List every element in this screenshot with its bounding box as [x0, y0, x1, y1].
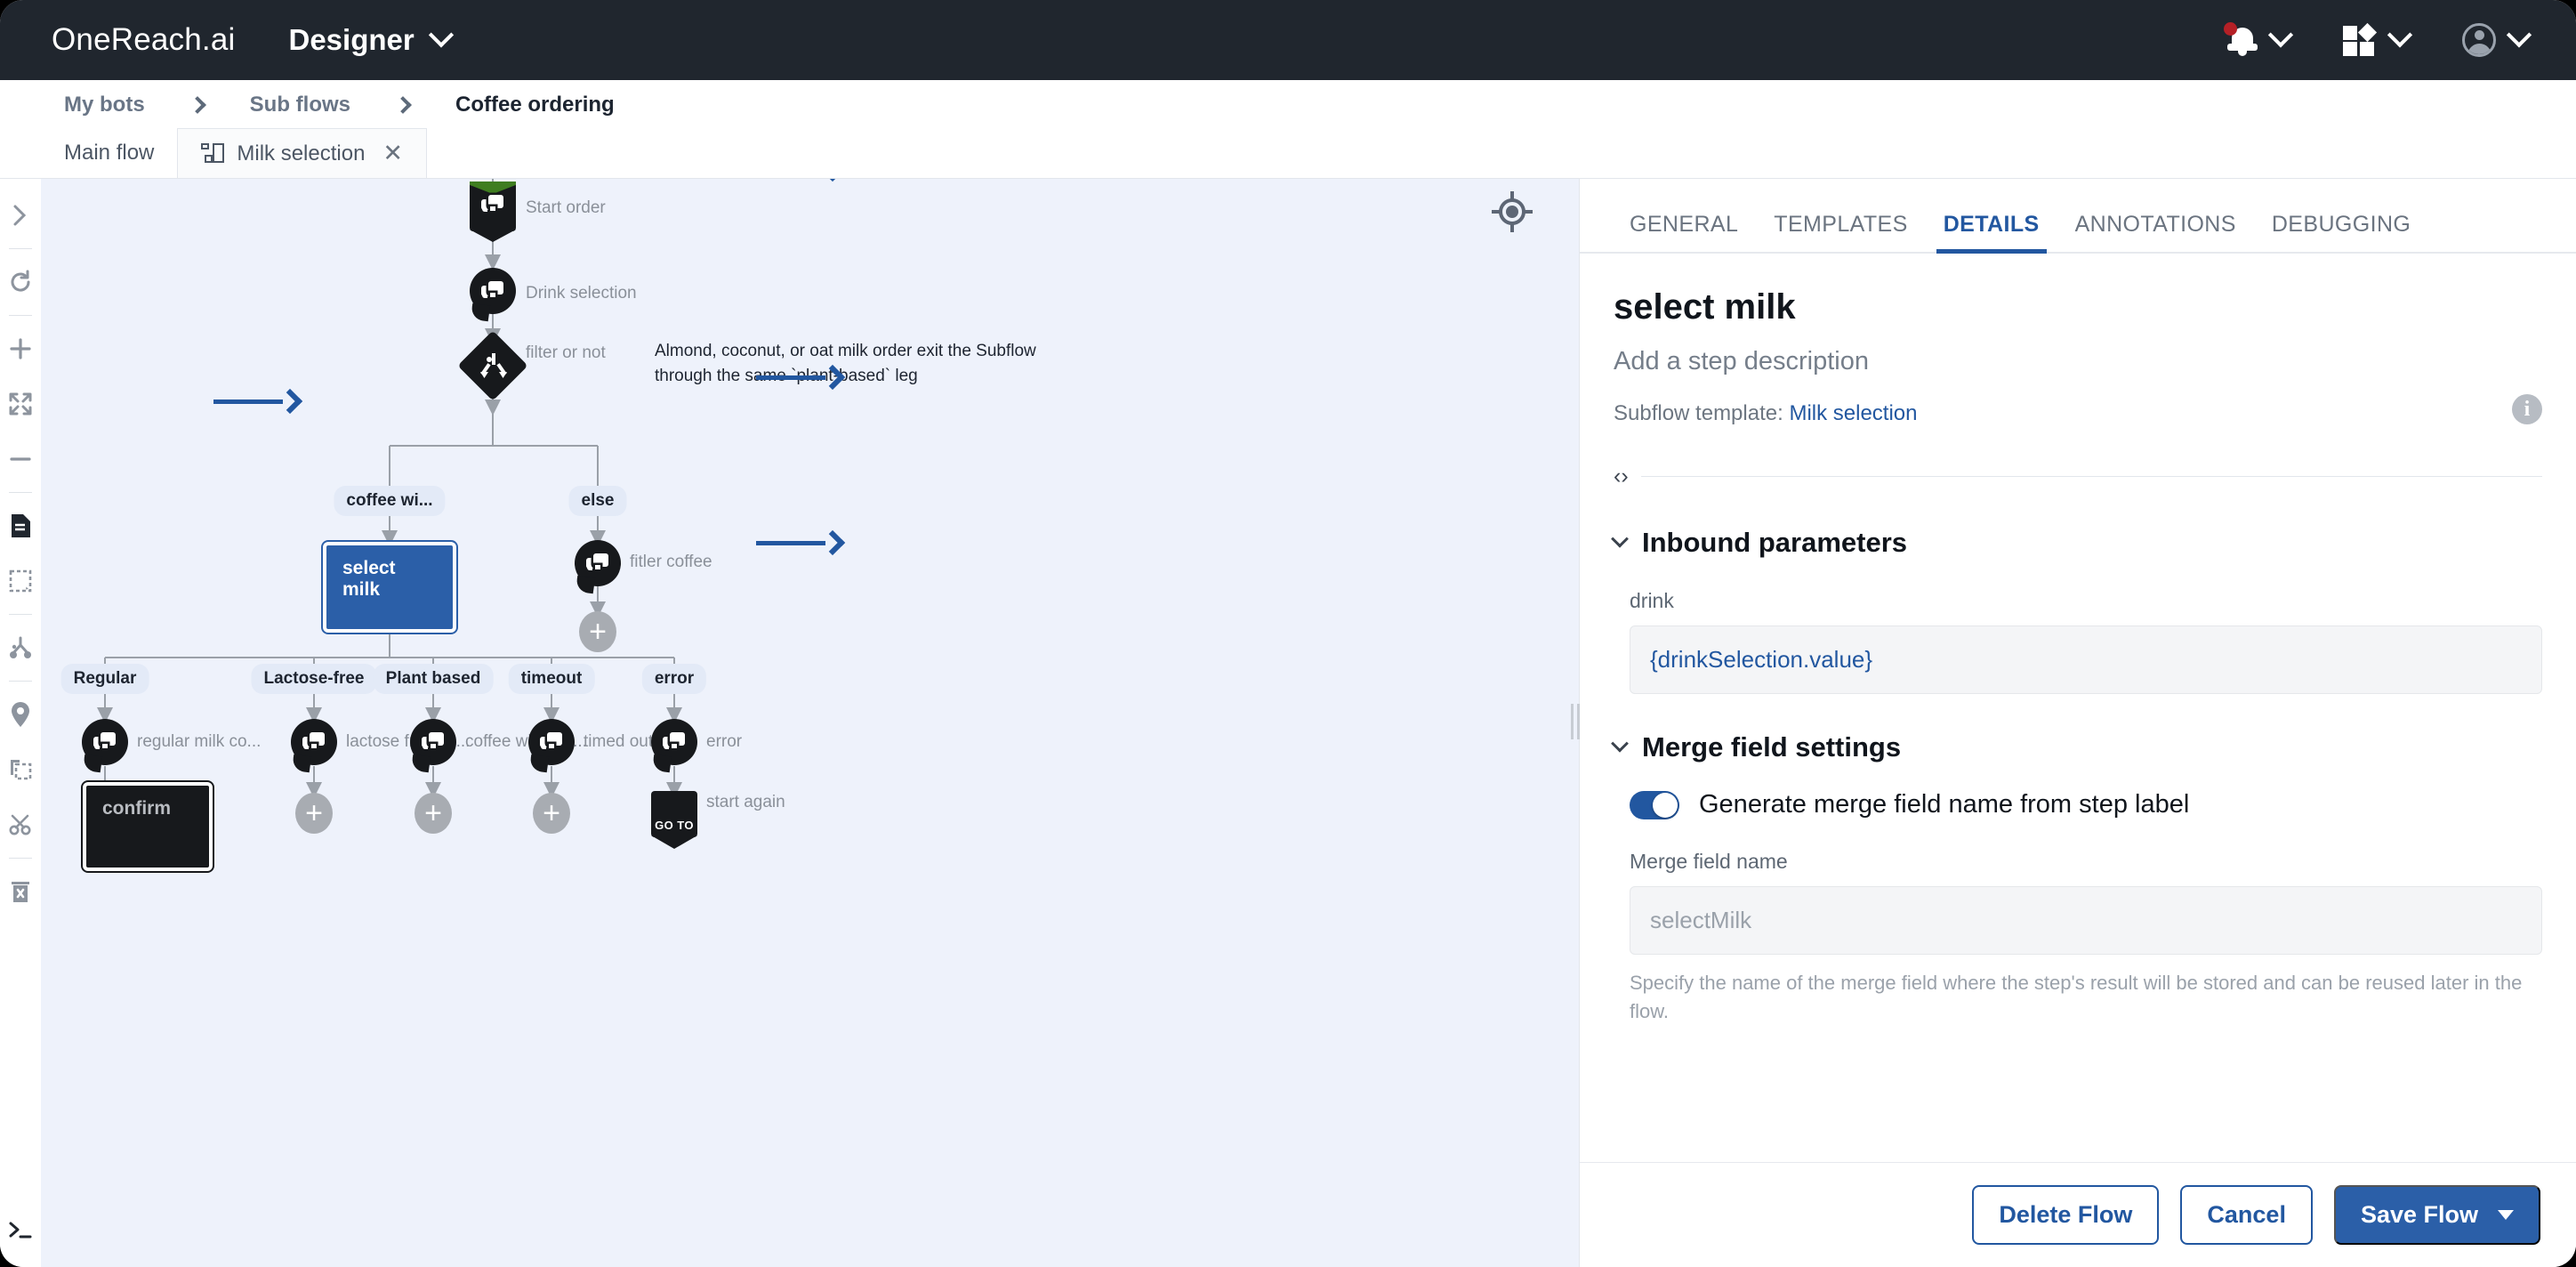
chevron-right-icon — [189, 96, 206, 114]
top-bar-actions — [2227, 23, 2528, 57]
apps-menu-button[interactable] — [2343, 24, 2409, 56]
refresh-icon[interactable] — [0, 262, 41, 303]
flow-node-label: error — [706, 732, 742, 752]
fit-to-screen-icon[interactable] — [0, 383, 41, 424]
notification-badge-dot — [2224, 22, 2237, 36]
tab-main-flow[interactable]: Main flow — [41, 128, 177, 178]
chevron-down-icon — [2387, 22, 2412, 47]
chevron-down-icon — [1611, 530, 1629, 548]
add-step-button[interactable]: + — [295, 793, 333, 834]
pointer-arrow-annotation — [756, 365, 841, 390]
subflow-template-link[interactable]: Milk selection — [1789, 401, 1917, 425]
flow-node-label: Drink selection — [526, 284, 637, 303]
chevron-down-icon[interactable] — [2498, 1210, 2514, 1220]
chat-bubble-icon — [663, 732, 687, 752]
user-avatar-icon — [2462, 23, 2496, 57]
start-cap — [470, 182, 516, 194]
rail-divider — [9, 614, 32, 615]
toggle-label: Generate merge field name from step labe… — [1699, 790, 2189, 819]
add-step-button[interactable]: + — [415, 793, 452, 834]
flow-node-lactose-free[interactable] — [291, 719, 337, 765]
flow-node-plant-based[interactable] — [410, 719, 456, 765]
expand-panel-icon[interactable] — [0, 195, 41, 236]
delete-flow-button[interactable]: Delete Flow — [1972, 1185, 2159, 1245]
flow-tab-bar: Main flow Milk selection ✕ — [0, 129, 2576, 179]
flow-node-regular-milk[interactable] — [82, 719, 128, 765]
breadcrumb-item-coffee-ordering[interactable]: Coffee ordering — [455, 93, 615, 117]
chat-bubble-icon — [481, 195, 505, 214]
rail-divider — [9, 858, 32, 859]
subflow-icon — [201, 143, 224, 165]
flow-node-error[interactable] — [651, 719, 697, 765]
document-icon[interactable] — [0, 505, 41, 546]
panel-content: select milk Add a step description Subfl… — [1580, 254, 2576, 1162]
account-menu-button[interactable] — [2462, 23, 2528, 57]
generate-merge-field-toggle[interactable] — [1630, 791, 1679, 819]
grid-apps-icon — [2343, 24, 2377, 56]
flow-node-drink-selection[interactable] — [470, 268, 516, 314]
close-icon[interactable]: ✕ — [382, 141, 403, 165]
split-branch-icon — [482, 353, 505, 378]
chat-bubble-icon — [422, 732, 446, 752]
section-inbound-parameters[interactable]: Inbound parameters — [1614, 527, 2542, 559]
chevron-down-icon — [2268, 22, 2293, 47]
panel-tab-bar: GENERAL TEMPLATES DETAILS ANNOTATIONS DE… — [1580, 179, 2576, 254]
flow-node-timed-out[interactable] — [528, 719, 575, 765]
app-switcher[interactable]: Designer — [289, 23, 450, 57]
chat-bubble-icon — [586, 553, 610, 573]
flow-node-start-order[interactable] — [470, 182, 516, 231]
chevron-right-icon — [394, 96, 412, 114]
branch-icon[interactable] — [0, 627, 41, 668]
chat-bubble-icon — [540, 732, 564, 752]
zoom-in-icon[interactable] — [0, 328, 41, 369]
panel-footer: Delete Flow Cancel Save Flow — [1580, 1162, 2576, 1267]
subflow-template-line: Subflow template: Milk selection — [1614, 401, 2542, 426]
chat-bubble-icon — [481, 281, 505, 301]
branch-pill-coffee-with[interactable]: coffee wi... — [334, 486, 445, 516]
delete-icon[interactable] — [0, 871, 41, 912]
flow-node-label: fitler coffee — [630, 553, 712, 572]
breadcrumb-item-my-bots[interactable]: My bots — [64, 93, 145, 117]
cut-icon[interactable] — [0, 804, 41, 845]
branch-pill-else[interactable]: else — [569, 486, 627, 516]
flow-node-label: start again — [706, 793, 785, 812]
zoom-out-icon[interactable] — [0, 439, 41, 480]
branch-pill-error[interactable]: error — [642, 664, 706, 694]
field-label-merge-field-name: Merge field name — [1630, 850, 2542, 874]
tab-annotations[interactable]: ANNOTATIONS — [2057, 212, 2254, 252]
details-panel: GENERAL TEMPLATES DETAILS ANNOTATIONS DE… — [1579, 179, 2576, 1267]
code-view-divider: ‹› — [1614, 464, 2542, 489]
pointer-arrow-annotation — [756, 530, 841, 555]
drink-param-input[interactable]: {drinkSelection.value} — [1630, 625, 2542, 694]
notifications-button[interactable] — [2227, 24, 2290, 56]
flow-node-fitler-coffee[interactable] — [575, 540, 621, 586]
flow-node-go-to-start-again[interactable]: GO TO — [651, 791, 697, 837]
section-merge-field-settings[interactable]: Merge field settings — [1614, 731, 2542, 763]
flow-node-label: regular milk co... — [137, 732, 261, 752]
tab-details[interactable]: DETAILS — [1926, 212, 2057, 252]
tab-general[interactable]: GENERAL — [1612, 212, 1756, 252]
tab-label: Main flow — [64, 141, 154, 165]
chevron-down-icon — [2507, 22, 2532, 47]
add-step-button[interactable]: + — [579, 611, 616, 652]
canvas-annotation-note: Almond, coconut, or oat milk order exit … — [655, 339, 1036, 388]
rail-divider — [9, 681, 32, 682]
chat-bubble-icon — [302, 732, 326, 752]
generate-merge-field-toggle-row: Generate merge field name from step labe… — [1630, 790, 2542, 819]
flow-node-confirm[interactable]: confirm — [83, 782, 213, 871]
save-flow-button[interactable]: Save Flow — [2334, 1185, 2540, 1245]
bell-icon — [2227, 24, 2258, 56]
section-title: Inbound parameters — [1642, 527, 1907, 559]
rail-divider — [9, 315, 32, 316]
tab-debugging[interactable]: DEBUGGING — [2254, 212, 2428, 252]
tab-label: Milk selection — [237, 141, 365, 166]
flow-canvas[interactable]: Start order Drink selection filter or no… — [41, 179, 1579, 1267]
step-description-input[interactable]: Add a step description — [1614, 347, 2542, 376]
pointer-arrow-annotation — [756, 179, 841, 182]
flow-node-label: select milk — [342, 558, 396, 600]
breadcrumb: My bots Sub flows Coffee ordering — [0, 80, 2576, 129]
tab-templates[interactable]: TEMPLATES — [1756, 212, 1925, 252]
rail-divider — [9, 248, 32, 249]
branch-pill-regular[interactable]: Regular — [61, 664, 149, 694]
application-window: OneReach.ai Designer — [0, 0, 2576, 1267]
chat-bubble-icon — [93, 732, 117, 752]
page-title: select milk — [1614, 287, 2542, 327]
code-brackets-icon[interactable]: ‹› — [1614, 464, 1629, 489]
copy-icon[interactable] — [0, 749, 41, 790]
flow-node-label: filter or not — [526, 343, 606, 363]
info-icon[interactable]: i — [2512, 394, 2542, 424]
merge-field-hint: Specify the name of the merge field wher… — [1630, 969, 2526, 1026]
save-flow-label: Save Flow — [2361, 1201, 2478, 1229]
flow-node-label: timed out — [584, 732, 653, 752]
branch-pill-plant-based[interactable]: Plant based — [374, 664, 494, 694]
chevron-down-icon — [429, 22, 454, 47]
flow-node-label: Start order — [526, 198, 606, 218]
flow-node-filter-or-not[interactable] — [468, 341, 518, 391]
add-step-button[interactable]: + — [533, 793, 570, 834]
breadcrumb-item-sub-flows[interactable]: Sub flows — [250, 93, 350, 117]
tab-milk-selection[interactable]: Milk selection ✕ — [177, 128, 427, 178]
app-name-label: Designer — [289, 23, 415, 57]
section-title: Merge field settings — [1642, 731, 1901, 763]
merge-field-name-input[interactable]: selectMilk — [1630, 886, 2542, 955]
pointer-arrow-annotation — [213, 389, 299, 414]
pin-location-icon[interactable] — [0, 694, 41, 735]
cancel-button[interactable]: Cancel — [2180, 1185, 2313, 1245]
top-bar: OneReach.ai Designer — [0, 0, 2576, 80]
select-area-icon[interactable] — [0, 561, 41, 601]
tool-rail — [0, 179, 41, 1267]
branch-pill-timeout[interactable]: timeout — [509, 664, 595, 694]
branch-pill-lactose-free[interactable]: Lactose-free — [252, 664, 377, 694]
chevron-down-icon — [1611, 735, 1629, 753]
flow-node-select-milk[interactable]: select milk — [323, 542, 456, 633]
brand-logo[interactable]: OneReach.ai — [52, 22, 236, 58]
divider-line — [1641, 476, 2542, 477]
terminal-icon[interactable] — [0, 1210, 41, 1251]
field-label-drink: drink — [1630, 589, 2542, 613]
rail-divider — [9, 492, 32, 493]
goto-badge-label: GO TO — [655, 819, 694, 837]
subflow-template-label: Subflow template: — [1614, 401, 1783, 425]
flow-node-label: confirm — [102, 798, 171, 819]
